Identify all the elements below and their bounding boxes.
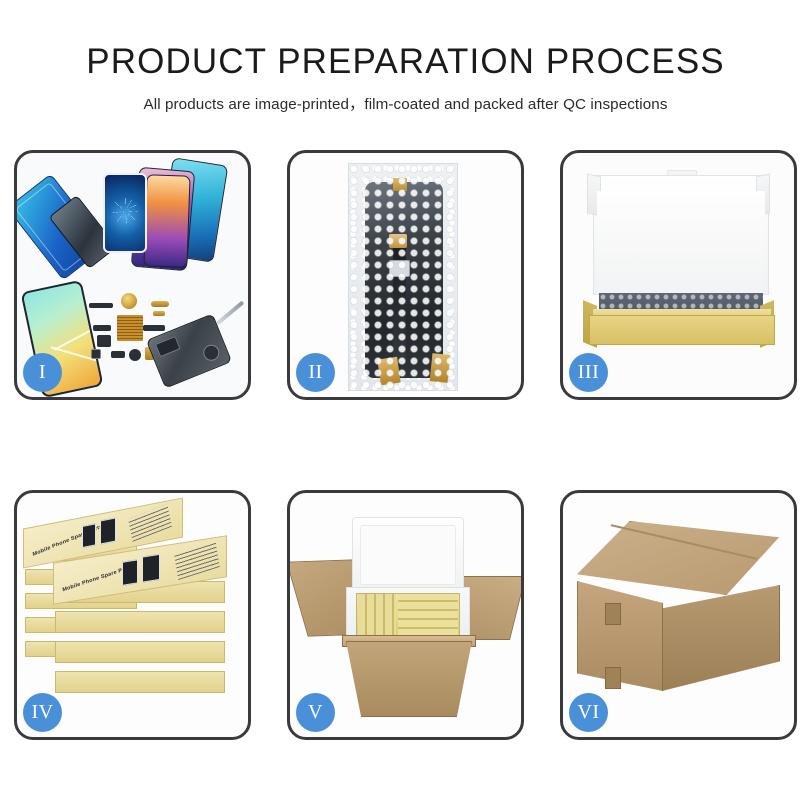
part-ic-2 <box>111 351 125 358</box>
flex-connector <box>389 260 410 277</box>
box-spec-lines <box>128 504 172 542</box>
part-earpiece <box>129 349 141 361</box>
stacked-box <box>55 641 225 663</box>
packed-boxes-horizontal <box>398 594 458 636</box>
packed-boxes-vertical <box>358 594 396 636</box>
box-front-panel <box>589 315 775 345</box>
page-title: PRODUCT PREPARATION PROCESS <box>0 44 811 81</box>
page-subtitle: All products are image-printed，film-coat… <box>0 92 811 114</box>
part-speaker-mesh <box>89 303 113 308</box>
process-step-6: VI <box>560 490 797 740</box>
box-product-image-b <box>100 517 116 544</box>
carton-tape-lower <box>605 667 621 689</box>
part-vibration-motor <box>121 293 137 309</box>
foam-sheet <box>597 191 765 293</box>
process-step-1: I <box>14 150 251 400</box>
process-step-5: V <box>287 490 524 740</box>
phone-orange <box>143 174 190 267</box>
box-product-image-a <box>82 523 96 548</box>
tape-top <box>393 178 407 191</box>
part-flex-gold-1 <box>151 301 169 307</box>
carton-right-face <box>662 585 780 691</box>
part-connector-2 <box>143 325 165 331</box>
product-preparation-infographic: PRODUCT PREPARATION PROCESS All products… <box>0 0 811 811</box>
box-product-image-b <box>142 554 160 583</box>
header: PRODUCT PREPARATION PROCESS All products… <box>0 0 811 114</box>
step-badge-4: IV <box>23 693 62 732</box>
bubble-wrap-sleeve <box>348 163 458 391</box>
step-badge-6: VI <box>569 693 608 732</box>
box-product-image-a <box>122 559 138 586</box>
stacked-box <box>55 671 225 693</box>
process-step-grid: I II <box>14 150 797 740</box>
stacked-box <box>55 611 225 633</box>
step-badge-3: III <box>569 353 608 392</box>
process-step-3: III <box>560 150 797 400</box>
part-flex-gold-2 <box>153 311 165 316</box>
part-ic-1 <box>91 349 101 359</box>
carton-tape-upper <box>605 603 621 625</box>
process-step-4: Mobile Phone Spare Parts Mobile Phone Sp… <box>14 490 251 740</box>
repair-tweezers <box>216 301 245 326</box>
part-connector-1 <box>93 325 111 331</box>
part-camera-module <box>97 335 111 347</box>
step-badge-2: II <box>296 353 335 392</box>
carton-body <box>346 641 472 717</box>
tape-bottom-left <box>377 357 400 386</box>
tape-bottom-right <box>430 353 451 383</box>
phone-front-glass <box>103 173 147 253</box>
step-badge-5: V <box>296 693 335 732</box>
part-bga-chip <box>117 315 143 341</box>
box-spec-lines <box>174 542 220 580</box>
step-badge-1: I <box>23 353 62 392</box>
tape-middle <box>389 234 407 248</box>
process-step-2: II <box>287 150 524 400</box>
foam-box-lid <box>352 517 464 593</box>
